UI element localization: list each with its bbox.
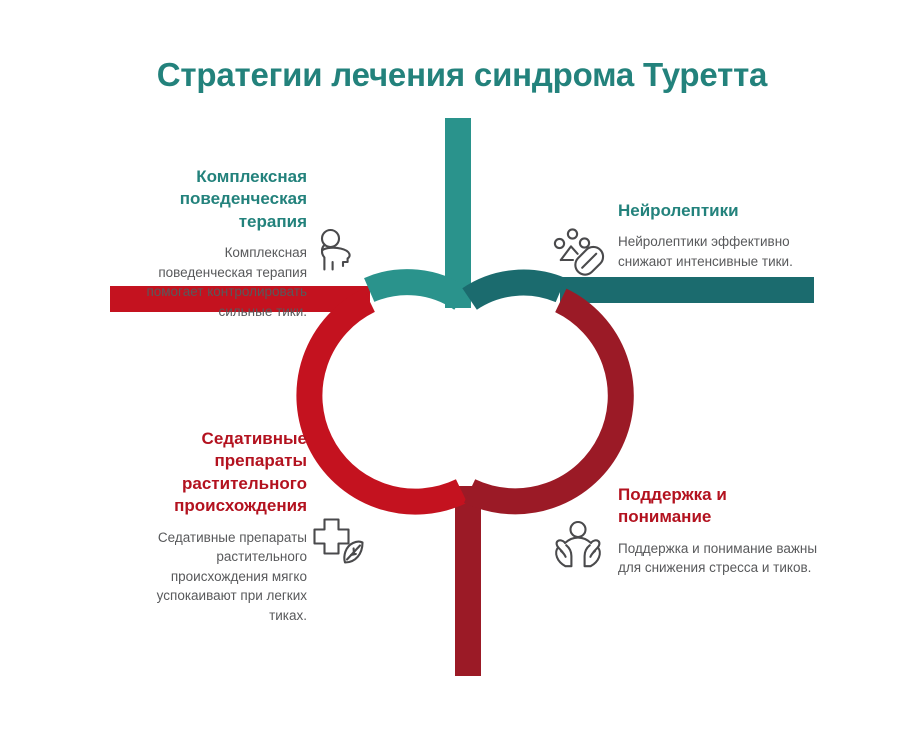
quadrant-bottom-right: Поддержка и понимание Поддержка и понима…: [618, 484, 823, 578]
quadrant-top-right: Нейролептики Нейролептики эффективно сни…: [618, 200, 808, 272]
pills-icon: [551, 226, 605, 280]
ring-arc-bottom-left: [309, 300, 461, 501]
person-head-icon: [312, 226, 360, 276]
ring-arc-top-right: [470, 283, 561, 299]
ring-arc-bottom-right: [470, 300, 621, 501]
quadrant-top-left: Комплексная поведенческая терапия Компле…: [132, 166, 307, 322]
infographic-canvas: Стратегии лечения синдрома Туретта Компл…: [0, 0, 924, 732]
quadrant-bottom-right-heading: Поддержка и понимание: [618, 484, 823, 529]
connector-right-bar: [560, 277, 814, 303]
supporting-hands-icon: [552, 520, 604, 572]
quadrant-bottom-right-body: Поддержка и понимание важны для снижения…: [618, 539, 823, 578]
quadrant-bottom-left-body: Седативные препараты растительного проис…: [122, 528, 307, 626]
connector-bottom-stem-bar: [455, 486, 481, 676]
medical-cross-leaf-icon: [310, 516, 368, 568]
quadrant-bottom-left-heading: Седативные препараты растительного проис…: [122, 428, 307, 518]
quadrant-top-right-heading: Нейролептики: [618, 200, 808, 222]
page-title: Стратегии лечения синдрома Туретта: [0, 56, 924, 94]
ring-arc-top-left: [369, 282, 461, 299]
quadrant-top-left-heading: Комплексная поведенческая терапия: [132, 166, 307, 233]
quadrant-top-left-body: Комплексная поведенческая терапия помога…: [132, 243, 307, 321]
quadrant-top-right-body: Нейролептики эффективно снижают интенсив…: [618, 232, 808, 271]
quadrant-bottom-left: Седативные препараты растительного проис…: [122, 428, 307, 626]
